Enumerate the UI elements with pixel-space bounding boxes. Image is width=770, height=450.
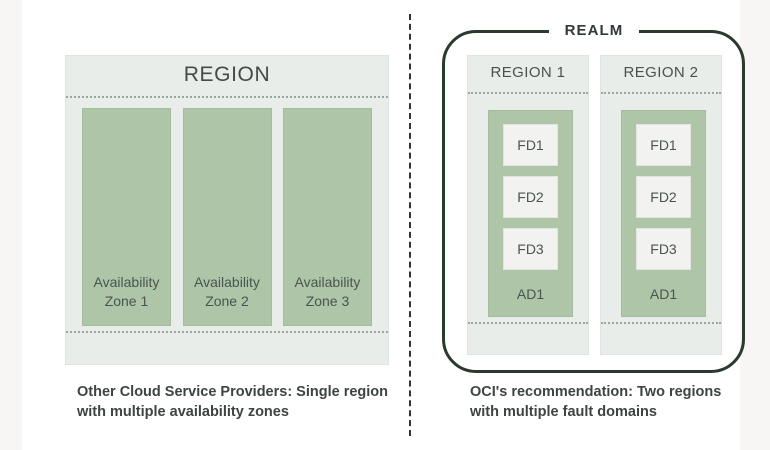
- region-1-availability-domain: FD1 FD2 FD3 AD1: [488, 110, 573, 317]
- availability-zone-1-label: Availability Zone 1: [94, 273, 160, 311]
- realm-label: REALM: [549, 14, 639, 46]
- architecture-diagram: REGION Availability Zone 1 Availability …: [0, 0, 770, 450]
- left-caption: Other Cloud Service Providers: Single re…: [77, 382, 397, 422]
- region-2-rule-top: [601, 92, 721, 94]
- region-2-availability-domain: FD1 FD2 FD3 AD1: [621, 110, 706, 317]
- region-2-ad-label: AD1: [650, 286, 677, 302]
- panel-divider: [409, 14, 411, 436]
- availability-zone-3: Availability Zone 3: [283, 108, 372, 326]
- region-2-fault-domain-1: FD1: [636, 124, 691, 166]
- region-2-rule-bottom: [601, 322, 721, 324]
- region-2-container: REGION 2 FD1 FD2 FD3 AD1: [600, 55, 722, 355]
- region-1-fault-domain-1: FD1: [503, 124, 558, 166]
- availability-zone-2: Availability Zone 2: [183, 108, 272, 326]
- availability-zone-3-label: Availability Zone 3: [295, 273, 361, 311]
- region-1-rule-top: [468, 92, 588, 94]
- region-2-title: REGION 2: [601, 64, 721, 81]
- left-region-rule-bottom: [66, 331, 388, 333]
- availability-zone-row: Availability Zone 1 Availability Zone 2 …: [66, 108, 388, 326]
- availability-zone-2-label: Availability Zone 2: [194, 273, 260, 311]
- region-1-title: REGION 1: [468, 64, 588, 81]
- region-1-fault-domain-3: FD3: [503, 228, 558, 270]
- region-1-container: REGION 1 FD1 FD2 FD3 AD1: [467, 55, 589, 355]
- left-region-rule-top: [66, 96, 388, 98]
- left-region-title: REGION: [66, 63, 388, 87]
- availability-zone-1: Availability Zone 1: [82, 108, 171, 326]
- right-caption: OCI's recommendation: Two regions with m…: [470, 382, 770, 422]
- diagram-canvas: REGION Availability Zone 1 Availability …: [22, 0, 740, 450]
- region-2-fault-domain-3: FD3: [636, 228, 691, 270]
- region-1-rule-bottom: [468, 322, 588, 324]
- region-1-fault-domain-2: FD2: [503, 176, 558, 218]
- region-1-ad-label: AD1: [517, 286, 544, 302]
- left-region-container: REGION Availability Zone 1 Availability …: [65, 55, 389, 365]
- region-2-fault-domain-2: FD2: [636, 176, 691, 218]
